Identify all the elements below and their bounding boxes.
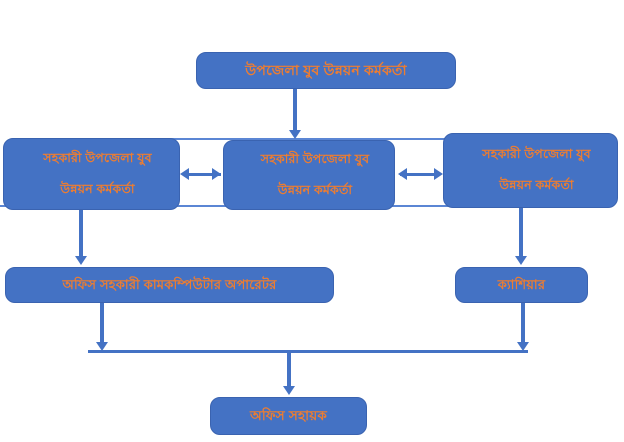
connector-right-to-cashier [519,208,523,258]
merge-bus-line [88,350,528,353]
org-chart-canvas: উপজেলা যুব উন্নয়ন কর্মকর্তা সহকারী উপজে… [0,0,624,442]
node-assistant-left-line2: উন্নয়ন কর্মকর্তা [10,182,185,198]
node-assistant-officer-left[interactable]: সহকারী উপজেলা যুব উন্নয়ন কর্মকর্তা [3,138,180,210]
node-cashier-label: ক্যাশিয়ার [456,277,587,293]
node-assistant-officer-right[interactable]: সহকারী উপজেলা যুব উন্নয়ন কর্মকর্তা [443,133,618,208]
node-upazila-youth-development-officer[interactable]: উপজেলা যুব উন্নয়ন কর্মকর্তা [196,52,456,89]
node-assistant-right-text: সহকারী উপজেলা যুব উন্নয়ন কর্মকর্তা [444,147,617,194]
arrow-middle-to-left-icon [180,168,189,180]
connector-office-op-to-bus [100,303,104,345]
node-assistant-middle-text: সহকারী উপজেলা যুব উন্নয়ন কর্মকর্তা [224,152,394,199]
arrow-middle-to-right-icon [434,168,443,180]
node-top-label: উপজেলা যুব উন্নয়ন কর্মকর্তা [197,62,455,80]
arrow-office-op-to-bus-icon [96,342,108,351]
node-assistant-officer-middle[interactable]: সহকারী উপজেলা যুব উন্নয়ন কর্মকর্তা [223,140,395,210]
connector-bus-to-office-support [287,352,291,389]
node-office-support-label: অফিস সহায়ক [211,408,366,425]
connector-cashier-to-bus [521,303,525,345]
arrow-left-to-office-op-icon [75,256,87,265]
arrow-cashier-to-bus-icon [517,342,529,351]
arrow-right-to-cashier-icon [515,256,527,265]
node-assistant-right-line1: সহকারী উপজেলা যুব [450,147,623,163]
node-assistant-left-line1: সহকারী উপজেলা যুব [10,151,185,167]
node-office-assistant-cum-computer-operator[interactable]: অফিস সহকারী কামকম্পিউটার অপারেটর [5,267,334,303]
node-assistant-right-line2: উন্নয়ন কর্মকর্তা [450,178,623,194]
arrow-right-rail-head-icon [398,168,407,180]
connector-left-to-office-op [79,210,83,258]
node-office-op-label: অফিস সহকারী কামকম্পিউটার অপারেটর [6,277,333,293]
arrow-top-to-middle-icon [289,130,301,139]
arrow-bus-to-office-support-icon [283,386,295,395]
node-assistant-middle-line2: উন্নয়ন কর্মকর্তা [230,183,400,199]
node-office-support-staff[interactable]: অফিস সহায়ক [210,397,367,435]
node-cashier[interactable]: ক্যাশিয়ার [455,267,588,303]
connector-top-to-middle [293,89,297,132]
node-assistant-left-text: সহকারী উপজেলা যুব উন্নয়ন কর্মকর্তা [4,151,179,198]
node-assistant-middle-line1: সহকারী উপজেলা যুব [230,152,400,168]
arrow-left-rail-head-icon [212,168,221,180]
